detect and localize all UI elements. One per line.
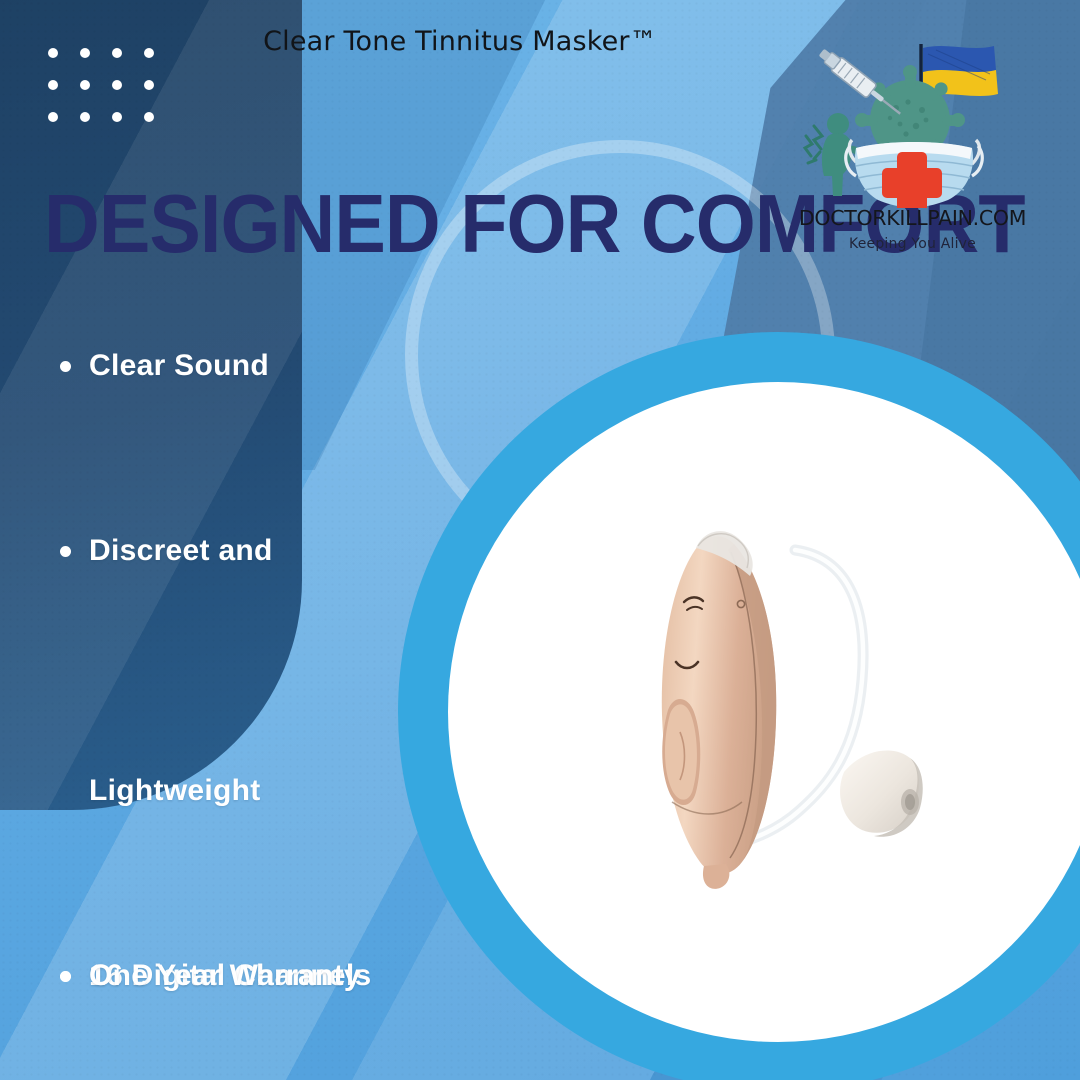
list-item: Clear Sound	[60, 345, 269, 386]
sound-wave-icon	[805, 126, 822, 163]
grid-dot	[80, 112, 90, 122]
list-item-continuation: Lightweight	[60, 770, 261, 811]
logo-domain-text: DOCTORKILLPAIN.COM	[790, 206, 1035, 230]
feature-label: One Year Warranty	[89, 955, 361, 996]
feature-label: Discreet and	[89, 530, 273, 571]
bullet-icon	[60, 546, 71, 557]
brand-logo[interactable]: DOCTORKILLPAIN.COM Keeping You Alive	[790, 28, 1035, 268]
dot-grid-decoration	[48, 48, 154, 122]
logo-artwork	[790, 28, 1035, 208]
poster-canvas: Clear Tone Tinnitus Masker™ DESIGNED FOR…	[0, 0, 1080, 1080]
bullet-icon	[60, 971, 71, 982]
product-name: Clear Tone Tinnitus Masker™	[0, 26, 920, 57]
feature-label: Clear Sound	[89, 345, 269, 386]
logo-tagline-text: Keeping You Alive	[790, 236, 1035, 252]
bullet-icon	[60, 361, 71, 372]
grid-dot	[80, 80, 90, 90]
list-item: One Year Warranty	[60, 955, 361, 996]
grid-dot	[144, 80, 154, 90]
grid-dot	[48, 112, 58, 122]
grid-dot	[112, 112, 122, 122]
feature-label: Lightweight	[89, 770, 261, 811]
grid-dot	[144, 112, 154, 122]
grid-dot	[48, 80, 58, 90]
grid-dot	[112, 80, 122, 90]
hearing-aid-image	[600, 480, 1000, 900]
list-item: Discreet and	[60, 530, 273, 571]
